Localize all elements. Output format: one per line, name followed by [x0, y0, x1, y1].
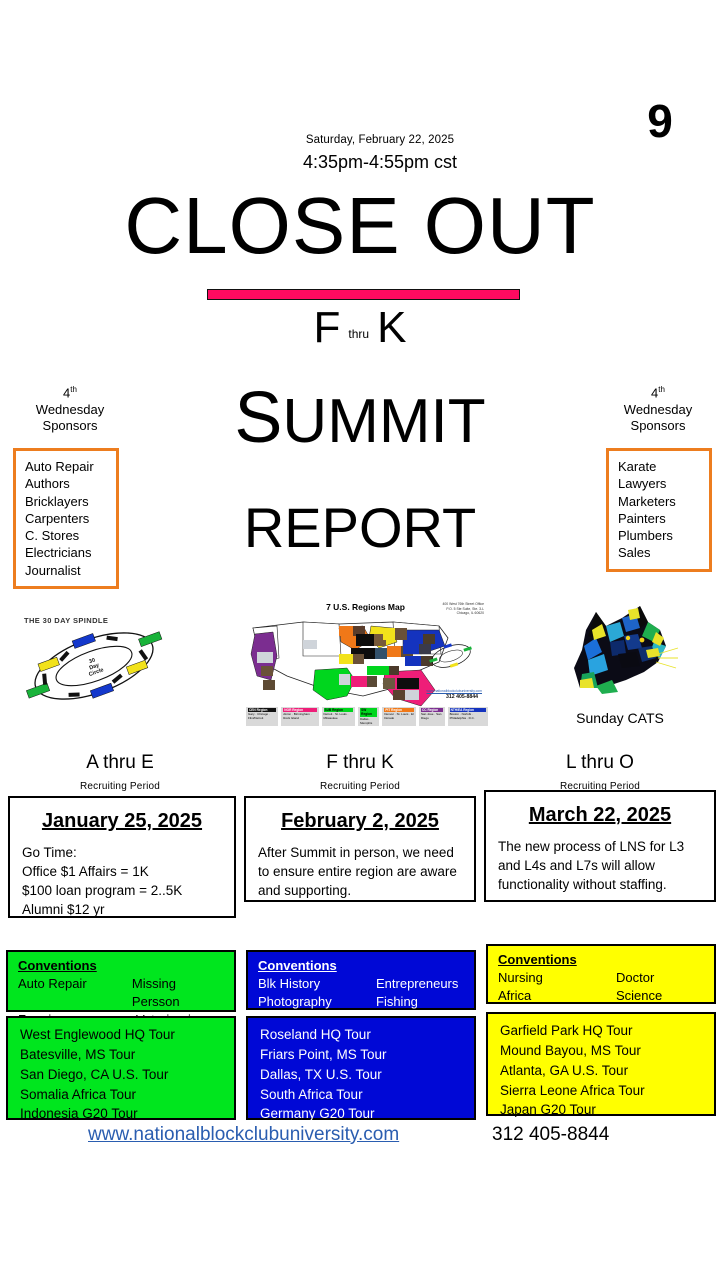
event-date: Saturday, February 22, 2025: [230, 134, 530, 146]
list-item: Auto Repair: [25, 458, 116, 475]
sponsors-right-heading-word: Sponsors: [631, 418, 686, 433]
legend-item: CC RegionSan Jose · San Diego: [419, 707, 445, 726]
list-item: Carpenters: [25, 510, 116, 527]
tours-box-blue: Roseland HQ Tour Friars Point, MS Tour D…: [246, 1016, 476, 1120]
list-item: San Diego, CA U.S. Tour: [20, 1065, 224, 1085]
page-title: CLOSE OUT: [0, 186, 720, 266]
list-item: Authors: [25, 475, 116, 492]
list-item: Batesville, MS Tour: [20, 1045, 224, 1065]
column-heading-l-o: L thru O: [480, 752, 720, 774]
sponsors-right-heading-sup: th: [658, 385, 665, 394]
spindle-diagram: THE 30 DAY SPINDLE 30 Day Circle: [14, 600, 174, 715]
map-phone: 312 405-8844: [446, 694, 478, 700]
conventions-box-green: Conventions Auto Repair Missing Persson …: [6, 950, 236, 1012]
letter-range-subtitle: FthruK: [0, 306, 720, 350]
report-line: Office $1 Affairs = 1K: [22, 862, 222, 881]
spindle-icon: 30 Day Circle: [14, 618, 174, 713]
report-date: February 2, 2025: [258, 810, 462, 833]
accent-bar: [207, 289, 520, 300]
report-paragraph: The new process of LNS for L3 and L4s an…: [498, 837, 702, 894]
list-item: Painters: [618, 510, 709, 527]
range-to: K: [377, 303, 406, 352]
summit-title-cap: S: [234, 378, 282, 458]
sponsors-right-box: Karate Lawyers Marketers Painters Plumbe…: [606, 448, 712, 572]
report-line: Go Time:: [22, 843, 222, 862]
conventions-cell: Africa: [498, 987, 616, 1005]
column-subheading-a-e: Recruiting Period: [0, 781, 240, 792]
panther-icon: [562, 596, 682, 701]
list-item: Journalist: [25, 562, 116, 579]
conventions-cell: Missing Persson: [132, 975, 224, 1011]
conventions-cell: Nursing: [498, 969, 616, 987]
map-legend: CEN RegionGary · Chicago · Flint/Detroit…: [246, 707, 488, 726]
column-subheading-f-k: Recruiting Period: [240, 781, 480, 792]
us-regions-map: 7 U.S. Regions Map 400 West 76th Street …: [243, 598, 488, 726]
list-item: Atlanta, GA U.S. Tour: [500, 1061, 704, 1081]
range-from: F: [314, 303, 341, 352]
summit-title-rest: UMMIT: [282, 387, 485, 456]
column-heading-f-k: F thru K: [240, 752, 480, 774]
list-item: Sierra Leone Africa Tour: [500, 1081, 704, 1101]
conventions-row: Africa Science: [498, 987, 704, 1005]
conventions-box-blue: Conventions Blk History Entrepreneurs Ph…: [246, 950, 476, 1010]
list-item: C. Stores: [25, 527, 116, 544]
list-item: Mound Bayou, MS Tour: [500, 1041, 704, 1061]
list-item: Somalia Africa Tour: [20, 1085, 224, 1105]
legend-item: SW RegionDallas · Memphis: [358, 707, 379, 726]
list-item: Bricklayers: [25, 493, 116, 510]
report-date: January 25, 2025: [22, 810, 222, 833]
conventions-title: Conventions: [498, 952, 704, 967]
tours-box-green: West Englewood HQ Tour Batesville, MS To…: [6, 1016, 236, 1120]
website-link[interactable]: www.nationalblockclubuniversity.com: [88, 1124, 399, 1146]
slide-canvas: 9 Saturday, February 22, 2025 4:35pm-4:5…: [0, 0, 720, 1280]
list-item: West Englewood HQ Tour: [20, 1025, 224, 1045]
sponsors-left-heading-day: Wednesday: [36, 402, 104, 417]
report-box-a-e: January 25, 2025 Go Time: Office $1 Affa…: [8, 796, 236, 918]
report-box-l-o: March 22, 2025 The new process of LNS fo…: [484, 790, 716, 902]
report-paragraph: After Summit in person, we need to ensur…: [258, 843, 462, 900]
conventions-cell: Science: [616, 987, 662, 1005]
legend-item: PIT RegionDenver · St. Louis · El Dorado: [382, 707, 416, 726]
map-url[interactable]: www.nationalblockclubuniversity.com: [426, 689, 482, 693]
column-heading-a-e: A thru E: [0, 752, 240, 774]
tours-box-yellow: Garfield Park HQ Tour Mound Bayou, MS To…: [486, 1012, 716, 1116]
sponsors-left-heading-word: Sponsors: [43, 418, 98, 433]
map-graphic: [243, 610, 488, 720]
sponsors-left-heading-sup: th: [70, 385, 77, 394]
list-item: Plumbers: [618, 527, 709, 544]
legend-item: NTH/EA RegionBoston · Norfolk · Philadel…: [448, 707, 488, 726]
event-time: 4:35pm-4:55pm cst: [230, 152, 530, 173]
conventions-title: Conventions: [258, 958, 464, 973]
list-item: Electricians: [25, 544, 116, 561]
conventions-row: Blk History Entrepreneurs: [258, 975, 464, 993]
sponsors-right-heading-day: Wednesday: [624, 402, 692, 417]
range-thru-label: thru: [340, 327, 377, 341]
conventions-cell: Photography: [258, 993, 376, 1011]
report-date: March 22, 2025: [498, 804, 702, 827]
legend-item: NOR RegionAkron · Birmingham · Rock Isla…: [281, 707, 318, 726]
list-item: South Africa Tour: [260, 1085, 464, 1105]
sunday-cats-logo: [562, 596, 682, 701]
list-item: Friars Point, MS Tour: [260, 1045, 464, 1065]
list-item: Karate: [618, 458, 709, 475]
list-item: Indonesia G20 Tour: [20, 1104, 224, 1124]
list-item: Marketers: [618, 493, 709, 510]
list-item: Roseland HQ Tour: [260, 1025, 464, 1045]
sponsors-left-heading: 4th Wednesday Sponsors: [10, 385, 130, 434]
list-item: Sales: [618, 544, 709, 561]
legend-item: CEN RegionGary · Chicago · Flint/Detroit: [246, 707, 278, 726]
phone-number: 312 405-8844: [492, 1124, 609, 1146]
conventions-cell: Blk History: [258, 975, 376, 993]
list-item: Germany G20 Tour: [260, 1104, 464, 1124]
conventions-row: Photography Fishing: [258, 993, 464, 1011]
conventions-title: Conventions: [18, 958, 224, 973]
report-line: $100 loan program = 2..5K: [22, 881, 222, 900]
conventions-cell: Fishing: [376, 993, 418, 1011]
list-item: Dallas, TX U.S. Tour: [260, 1065, 464, 1085]
report-box-f-k: February 2, 2025 After Summit in person,…: [244, 796, 476, 902]
list-item: Garfield Park HQ Tour: [500, 1021, 704, 1041]
sponsors-right-heading: 4th Wednesday Sponsors: [598, 385, 718, 434]
slide-number: 9: [630, 98, 690, 144]
sunday-cats-caption: Sunday CATS: [520, 710, 720, 726]
list-item: Lawyers: [618, 475, 709, 492]
conventions-cell: Auto Repair: [18, 975, 132, 1011]
conventions-row: Auto Repair Missing Persson: [18, 975, 224, 1011]
report-line: Alumni $12 yr: [22, 900, 222, 919]
conventions-box-yellow: Conventions Nursing Doctor Africa Scienc…: [486, 944, 716, 1004]
conventions-cell: Entrepreneurs: [376, 975, 458, 993]
conventions-cell: Doctor: [616, 969, 654, 987]
list-item: Japan G20 Tour: [500, 1100, 704, 1120]
conventions-row: Nursing Doctor: [498, 969, 704, 987]
legend-item: SUB RegionDetroit · St. Louis · Milwauke…: [322, 707, 356, 726]
sponsors-left-box: Auto Repair Authors Bricklayers Carpente…: [13, 448, 119, 589]
